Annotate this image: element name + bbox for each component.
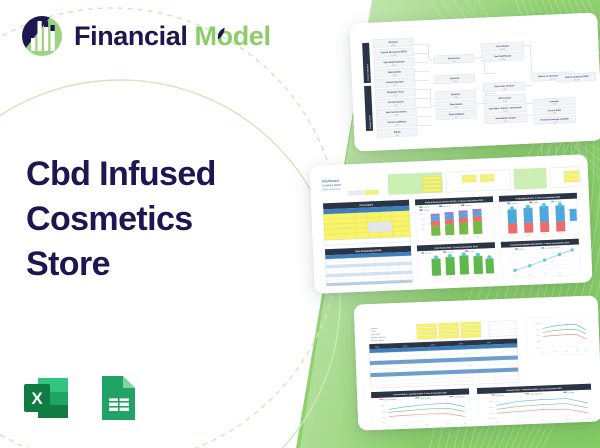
ratio-line-chart-top-right: 100,00080,000 60,00040,00020,000 20XX20X… <box>526 316 589 356</box>
svg-text:20XX: 20XX <box>576 350 579 352</box>
svg-text:20XX: 20XX <box>566 419 569 421</box>
svg-text:100,000: 100,000 <box>488 401 493 403</box>
svg-text:2023: 2023 <box>544 273 547 275</box>
svg-text:20XX: 20XX <box>517 420 520 422</box>
svg-text:60,000: 60,000 <box>536 335 540 337</box>
svg-text:20XX: 20XX <box>542 351 545 353</box>
dupont-node-roe: Return on Equity (ROE) 88.6% <box>558 73 596 83</box>
svg-text:20XX: 20XX <box>431 344 435 346</box>
svg-text:2021: 2021 <box>514 274 517 276</box>
financial-model-circle-chart-logo <box>20 14 64 58</box>
brand-wordmark: Financial Model <box>74 23 271 50</box>
svg-text:Payback: Payback <box>519 248 525 250</box>
svg-text:20XX: 20XX <box>565 351 568 353</box>
svg-text:Company Name:: Company Name: <box>322 183 342 188</box>
dupont-analysis-card[interactable]: Income Statement Balance Sheet <box>349 12 600 151</box>
dupont-analysis-diagram: Income Statement Balance Sheet <box>349 12 600 151</box>
svg-text:1.86: 1.86 <box>552 103 556 105</box>
svg-text:Depreciation: Depreciation <box>388 70 402 74</box>
svg-text:8.18: 8.18 <box>503 101 507 103</box>
svg-text:20XX: 20XX <box>459 343 463 345</box>
microsoft-excel-icon[interactable]: X <box>20 372 72 424</box>
svg-text:2021: 2021 <box>511 234 514 236</box>
svg-text:49.6%: 49.6% <box>500 49 506 51</box>
svg-text:A/R Turnover: A/R Turnover <box>498 96 511 100</box>
svg-text:80,000: 80,000 <box>381 405 385 407</box>
svg-text:Gross Profit: Gross Profit <box>371 333 381 336</box>
dashboard-card[interactable]: Dashboard Company Name: <enter name here… <box>309 154 592 294</box>
svg-text:COGS: COGS <box>371 331 377 333</box>
financial-ratio-reports: Revenue COGS Gross Profit Operating Expe… <box>354 295 600 430</box>
svg-text:20XX: 20XX <box>405 425 408 427</box>
svg-text:20XX: 20XX <box>542 419 545 421</box>
brand-name-part1: Financial <box>74 21 187 51</box>
svg-text:2022: 2022 <box>529 274 532 276</box>
svg-text:2,340: 2,340 <box>453 81 458 83</box>
svg-text:20,000: 20,000 <box>382 422 386 424</box>
svg-text:47.6%: 47.6% <box>550 78 556 80</box>
svg-text:20XX: 20XX <box>587 418 590 420</box>
svg-text:2024: 2024 <box>477 276 480 278</box>
svg-text:Total Assets: Total Assets <box>450 103 464 107</box>
svg-text:20XX: 20XX <box>464 422 467 424</box>
svg-text:Gross Margin: Gross Margin <box>496 44 510 48</box>
svg-text:1,181: 1,181 <box>503 111 508 113</box>
svg-text:1.95: 1.95 <box>553 112 557 114</box>
svg-text:2,340: 2,340 <box>391 45 396 47</box>
svg-text:(417): (417) <box>392 65 397 67</box>
svg-text:2024: 2024 <box>559 232 562 234</box>
svg-text:30,000: 30,000 <box>421 229 425 231</box>
svg-text:2,340: 2,340 <box>453 97 458 99</box>
brand-name-part2: Model <box>195 21 271 51</box>
svg-text:1.86: 1.86 <box>553 121 557 123</box>
svg-text:Revenue: Revenue <box>371 328 378 330</box>
svg-text:60,000: 60,000 <box>381 411 385 413</box>
ratio-line-chart-bottom-left: Financial Ratios - Liquidity ($ 000) - 5… <box>371 388 470 428</box>
investment-payback-panel: Investment Payback Chart ($ 000) - 5 Yea… <box>501 239 580 278</box>
svg-text:1,181: 1,181 <box>454 107 459 109</box>
svg-text:Core Inputs: Core Inputs <box>359 203 373 207</box>
svg-text:Leverage: Leverage <box>568 392 574 394</box>
svg-text:60,000: 60,000 <box>489 413 493 415</box>
svg-text:20XX: 20XX <box>426 424 429 426</box>
svg-text:20XX: 20XX <box>447 423 450 425</box>
financial-dashboard: Dashboard Company Name: <enter name here… <box>309 154 592 294</box>
leaf-icon <box>216 27 226 40</box>
page-title-line2: Cosmetics <box>26 197 276 242</box>
core-inputs-panel: Core Inputs <box>323 200 411 246</box>
page-title-line1: Cbd Infused <box>26 152 276 197</box>
svg-text:634: 634 <box>504 121 507 123</box>
financial-reports-card[interactable]: Revenue COGS Gross Profit Operating Expe… <box>354 295 600 430</box>
svg-text:2021: 2021 <box>435 278 438 280</box>
svg-text:2024: 2024 <box>476 236 479 238</box>
svg-text:2023: 2023 <box>462 236 465 238</box>
svg-text:538: 538 <box>395 115 398 117</box>
svg-text:60,000: 60,000 <box>421 224 425 226</box>
svg-text:(117): (117) <box>393 95 398 97</box>
svg-text:2022: 2022 <box>449 277 452 279</box>
svg-text:120,000: 120,000 <box>420 214 425 216</box>
svg-text:547: 547 <box>455 117 458 119</box>
svg-text:80,000: 80,000 <box>536 329 540 331</box>
svg-text:2024: 2024 <box>559 272 562 274</box>
svg-text:100,000: 100,000 <box>535 323 540 325</box>
page-title-line3: Store <box>26 242 276 287</box>
svg-text:24.0%: 24.0% <box>500 59 506 61</box>
svg-text:X: X <box>31 389 43 408</box>
svg-text:EBITDA & Margin: EBITDA & Margin <box>371 339 384 343</box>
svg-text:634: 634 <box>396 135 399 137</box>
svg-text:88.6%: 88.6% <box>574 79 580 81</box>
svg-text:40,000: 40,000 <box>489 418 493 420</box>
svg-text:40,000: 40,000 <box>537 341 541 343</box>
svg-text:2023: 2023 <box>543 233 546 235</box>
svg-text:Equity: Equity <box>394 130 402 133</box>
svg-text:20,000: 20,000 <box>537 347 541 349</box>
svg-text:Revenue: Revenue <box>450 78 460 80</box>
svg-text:40,000: 40,000 <box>381 417 385 419</box>
svg-text:(1,180): (1,180) <box>391 55 397 57</box>
svg-text:(27): (27) <box>393 85 397 87</box>
svg-text:20XX: 20XX <box>496 421 499 423</box>
page-title: Cbd Infused Cosmetics Store <box>26 152 276 288</box>
svg-text:20XX: 20XX <box>585 350 588 352</box>
svg-text:2022: 2022 <box>527 234 530 236</box>
cash-flow-panel: Cash Flow ($ 000) - 5 Years to December … <box>417 242 496 281</box>
profitability-panel: Profitability ($ 000) - 5 Years to Decem… <box>499 193 579 238</box>
file-format-icons: X <box>20 372 142 424</box>
svg-text:Operating Expenses: Operating Expenses <box>371 335 387 339</box>
svg-text:330: 330 <box>395 125 398 127</box>
svg-text:20XX: 20XX <box>487 342 491 344</box>
svg-text:80,000: 80,000 <box>489 407 493 409</box>
svg-text:20XX: 20XX <box>403 345 407 347</box>
svg-text:1.98: 1.98 <box>502 89 506 91</box>
svg-text:2021: 2021 <box>434 238 437 240</box>
google-sheets-icon[interactable] <box>90 372 142 424</box>
svg-text:Dashboard: Dashboard <box>322 179 339 184</box>
core-financials-panel: Core Financials ($ 000) <box>325 246 412 287</box>
svg-text:2023: 2023 <box>463 276 466 278</box>
brand-logo: Financial Model <box>20 14 271 58</box>
svg-text:20XX: 20XX <box>553 351 556 353</box>
ratio-line-chart-bottom-right: Financial Ratios - Profitability ($ 000)… <box>477 384 592 424</box>
svg-text:(38): (38) <box>393 75 397 77</box>
svg-text:562: 562 <box>452 61 455 63</box>
svg-text:20XX: 20XX <box>388 425 391 427</box>
svg-text:20XX: 20XX <box>375 346 379 348</box>
svg-text:643: 643 <box>394 105 397 107</box>
svg-text:2022: 2022 <box>448 237 451 239</box>
poster-canvas: Financial Model Cbd Infused Cosmetics St… <box>0 0 600 448</box>
svg-text:Revenue: Revenue <box>511 203 517 205</box>
svg-text:90,000: 90,000 <box>421 219 425 221</box>
svg-text:Net Income: Net Income <box>448 57 461 61</box>
revenue-streams-panel: Profit & Revenue Streams ($ 000) - 5 Yea… <box>415 196 495 241</box>
